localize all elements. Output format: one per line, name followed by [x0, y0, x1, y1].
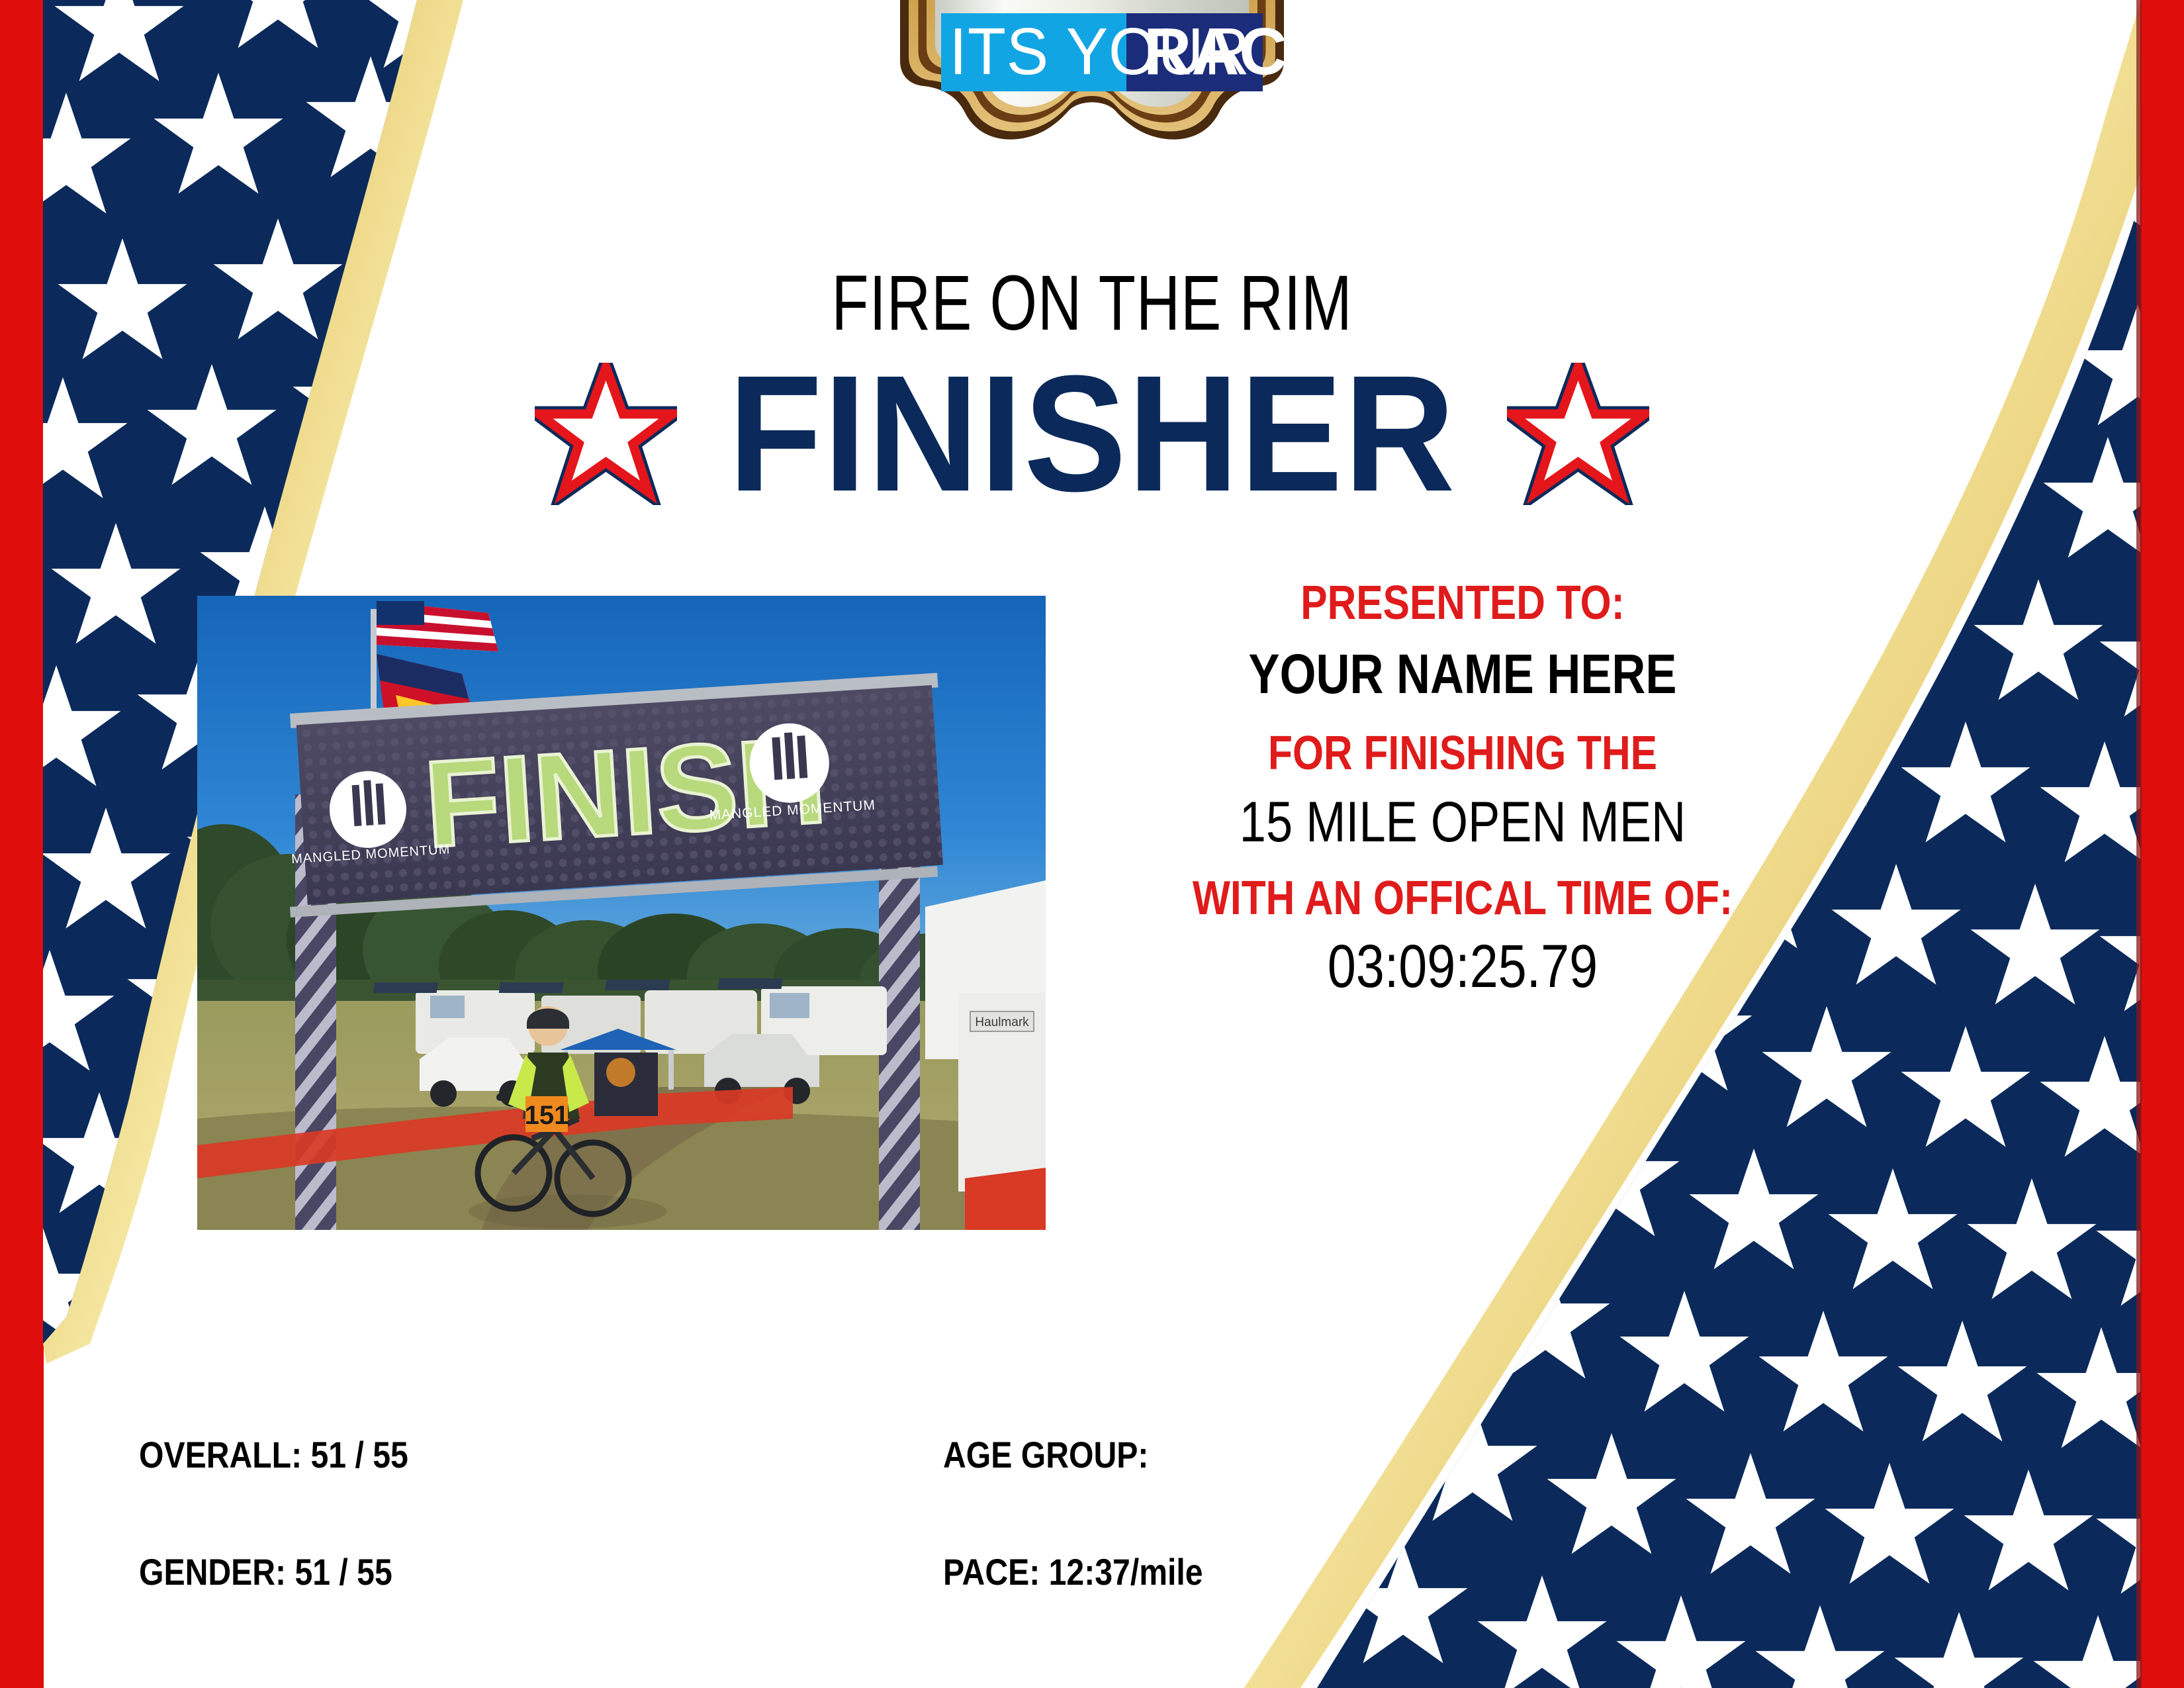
stats-row-1: OVERALL: 51 / 55 AGE GROUP:: [139, 1433, 1396, 1476]
stats-row-2: GENDER: 51 / 55 PACE: 12:37/mile: [139, 1550, 1396, 1593]
award-title: FINISHER: [728, 351, 1456, 516]
stat-age-group: AGE GROUP:: [943, 1433, 1333, 1476]
for-finishing-label: FOR FINISHING THE: [1134, 726, 1790, 780]
logo-race-text: RACE: [1144, 15, 1304, 89]
presented-to-label: PRESENTED TO:: [1134, 576, 1790, 630]
haulmark-label: Haulmark: [975, 1015, 1029, 1029]
stat-gender: GENDER: 51 / 55: [139, 1550, 831, 1593]
athlete-name: YOUR NAME HERE: [1134, 642, 1790, 706]
official-time-value: 03:09:25.79: [1134, 932, 1790, 1002]
finish-line-photo: FINISH MANGLED MOMENTUM MANG: [197, 596, 1046, 1230]
bib-number: 151: [525, 1101, 569, 1130]
stat-overall: OVERALL: 51 / 55: [139, 1433, 831, 1476]
finisher-certificate: ITS YOUR RACE FIRE ON THE RIM FINISHER: [0, 0, 2184, 1688]
right-stripe-shadow: [2136, 0, 2142, 1688]
presentation-block: PRESENTED TO: YOUR NAME HERE FOR FINISHI…: [1072, 576, 1853, 1002]
stat-pace: PACE: 12:37/mile: [943, 1550, 1333, 1593]
official-time-label: WITH AN OFFICAL TIME OF:: [1134, 871, 1790, 925]
right-red-stripe: [2140, 0, 2184, 1688]
results-stats-block: OVERALL: 51 / 55 AGE GROUP: GENDER: 51 /…: [139, 1433, 1396, 1667]
logo-wordmark: ITS YOUR RACE: [941, 13, 1304, 91]
haulmark-trailer: Haulmark: [958, 993, 1046, 1192]
its-your-race-badge-logo: ITS YOUR RACE: [880, 0, 1304, 187]
star-right-icon: [1507, 363, 1649, 505]
event-name: 15 MILE OPEN MEN: [1134, 790, 1790, 855]
star-left-icon: [535, 363, 677, 505]
finisher-headline-row: FINISHER: [0, 351, 2184, 516]
race-title: FIRE ON THE RIM: [240, 258, 1944, 348]
left-red-stripe: [0, 0, 44, 1688]
